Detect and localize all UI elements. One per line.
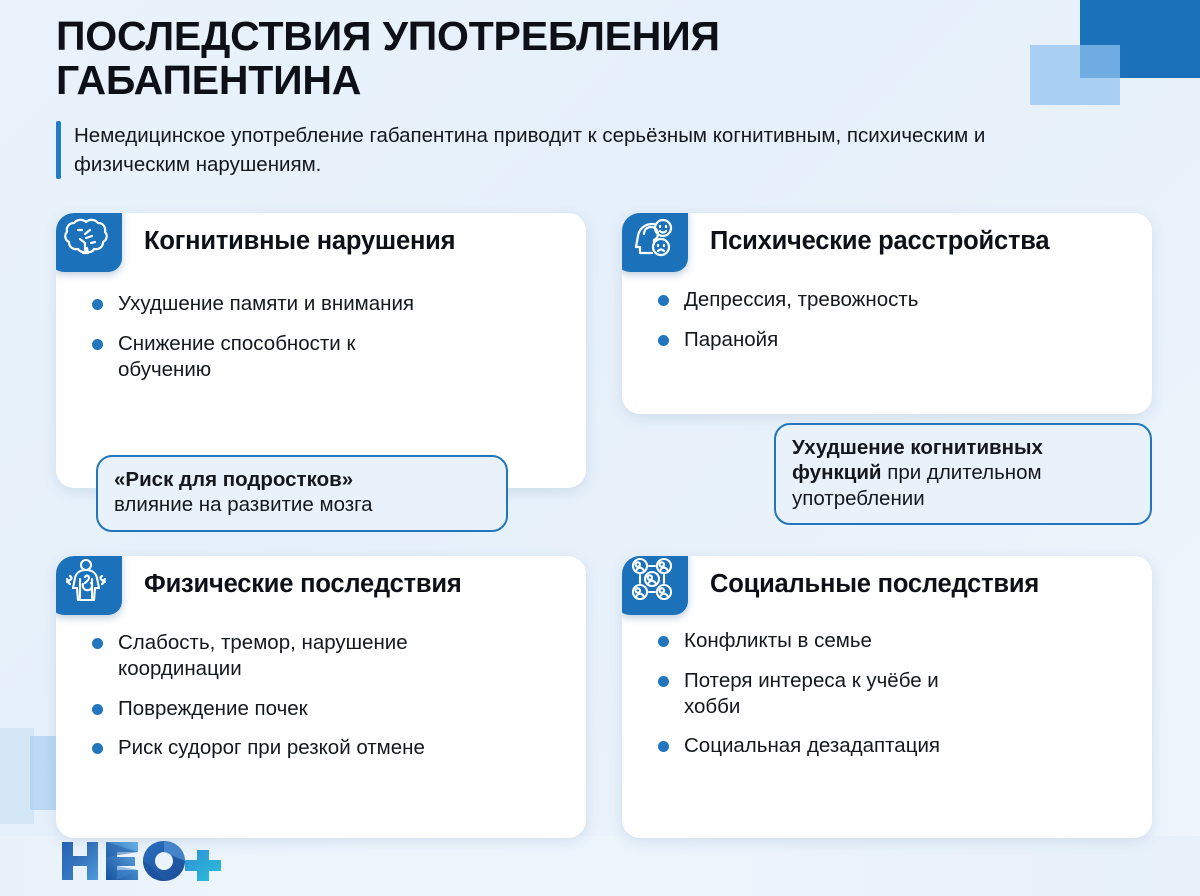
bullet-list-cognitive: Ухудшение памяти и внимания Снижение спо…	[90, 291, 420, 396]
subtitle-text: Немедицинское употребление габапентина п…	[74, 121, 1014, 179]
body-tremor-icon-box	[56, 556, 122, 615]
callout-teens: «Риск для подростков» влияние на развити…	[96, 455, 508, 532]
header: ПОСЛЕДСТВИЯ УПОТРЕБЛЕНИЯ ГАБАПЕНТИНА Нем…	[56, 14, 1056, 179]
card-title-mental: Психические расстройства	[710, 227, 1049, 256]
decorative-square-left-outer	[0, 728, 34, 824]
callout-teens-rest: влияние на развитие мозга	[114, 493, 373, 516]
subtitle-accent-bar	[56, 121, 61, 179]
list-item: Конфликты в семье	[656, 628, 986, 654]
callout-teens-bold: «Риск для подростков»	[114, 468, 353, 491]
card-mental: Психические расстройства Депрессия, трев…	[622, 213, 1152, 414]
list-item: Ухудшение памяти и внимания	[90, 291, 420, 317]
list-item: Риск судорог при резкой отмене	[90, 735, 440, 761]
card-title-cognitive: Когнитивные нарушения	[144, 227, 455, 256]
neo-plus-logo-icon	[58, 838, 226, 884]
bullet-list-social: Конфликты в семье Потеря интереса к учёб…	[656, 628, 986, 773]
social-network-icon	[628, 556, 676, 603]
bullet-list-mental: Депрессия, тревожность Паранойя	[656, 287, 1016, 367]
card-title-physical: Физические последствия	[144, 570, 462, 599]
card-social: Социальные последствия Конфликты в семье…	[622, 556, 1152, 838]
head-emotions-icon	[628, 213, 676, 260]
social-network-icon-box	[622, 556, 688, 615]
list-item: Слабость, тремор, нарушение координации	[90, 630, 440, 682]
list-item: Социальная дезадаптация	[656, 733, 986, 759]
brain-icon	[62, 213, 110, 260]
list-item: Депрессия, тревожность	[656, 287, 1016, 313]
brain-icon-box	[56, 213, 122, 272]
body-tremor-icon	[62, 556, 110, 603]
bullet-list-physical: Слабость, тремор, нарушение координации …	[90, 630, 440, 775]
card-title-social: Социальные последствия	[710, 570, 1039, 599]
subtitle-block: Немедицинское употребление габапентина п…	[56, 121, 1056, 179]
page-title: ПОСЛЕДСТВИЯ УПОТРЕБЛЕНИЯ ГАБАПЕНТИНА	[56, 14, 1056, 103]
card-physical: Физические последствия Слабость, тремор,…	[56, 556, 586, 838]
card-cognitive: Когнитивные нарушения Ухудшение памяти и…	[56, 213, 586, 488]
brand-logo	[58, 838, 226, 884]
head-emotions-icon-box	[622, 213, 688, 272]
list-item: Паранойя	[656, 327, 1016, 353]
list-item: Снижение способности к обучению	[90, 331, 420, 383]
callout-longterm: Ухудшение когнитивных функций при длител…	[774, 423, 1152, 525]
list-item: Повреждение почек	[90, 696, 440, 722]
list-item: Потеря интереса к учёбе и хобби	[656, 668, 986, 720]
